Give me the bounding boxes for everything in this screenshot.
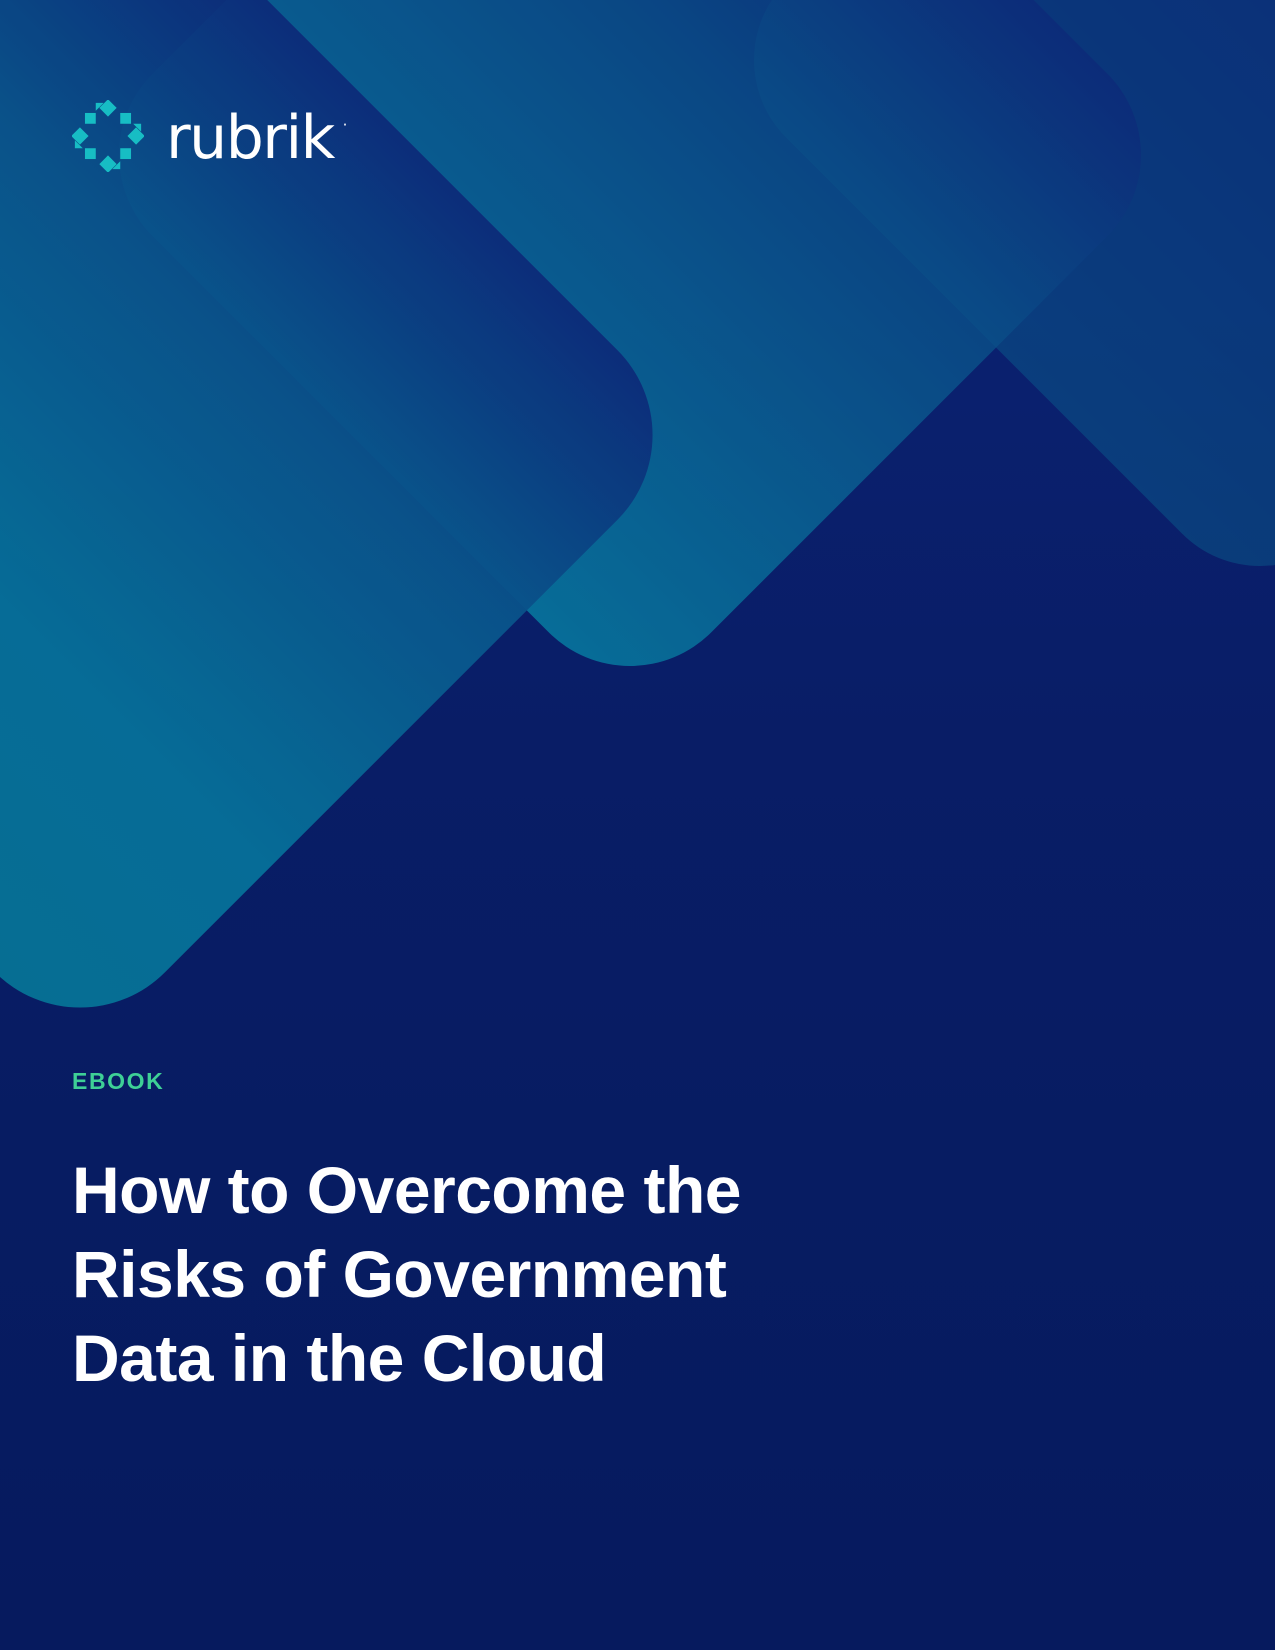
ebook-cover-page: rubrik· EBOOK How to Overcome the Risks … <box>0 0 1275 1650</box>
rubrik-wordmark: rubrik· <box>166 104 334 168</box>
wordmark-text: rubrik <box>166 103 334 173</box>
back-diamond-shape <box>708 0 1275 612</box>
trademark-symbol: · <box>343 118 346 133</box>
page-title: How to Overcome the Risks of Government … <box>72 1149 892 1400</box>
content-type-label: EBOOK <box>72 1070 892 1093</box>
cover-text-block: EBOOK How to Overcome the Risks of Gover… <box>72 1070 892 1400</box>
rubrik-logo-icon <box>72 100 144 172</box>
background-artwork <box>0 0 1275 1650</box>
rubrik-logo-lockup[interactable]: rubrik· <box>72 100 334 172</box>
